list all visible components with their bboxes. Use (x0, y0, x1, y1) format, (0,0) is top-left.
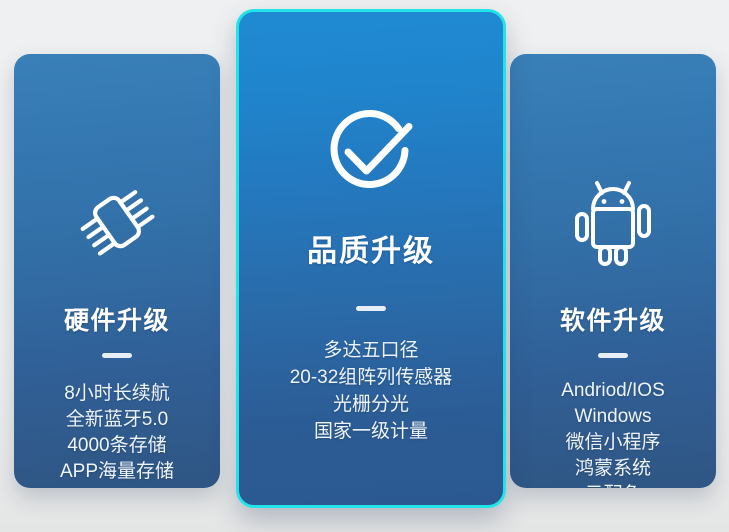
list-item: 微信小程序 (510, 430, 716, 456)
card-title-hardware: 硬件升级 (14, 306, 220, 336)
android-robot-icon (510, 174, 716, 270)
feature-card-hardware[interactable]: 硬件升级 8小时长续航 全新蓝牙5.0 4000条存储 APP海量存储 (14, 54, 220, 488)
title-divider (102, 353, 132, 358)
title-divider (356, 306, 386, 311)
title-divider (598, 353, 628, 358)
check-circle-icon (239, 98, 503, 210)
list-item: 国家一级计量 (239, 418, 503, 445)
list-item: Windows (510, 404, 716, 430)
feature-list-hardware: 8小时长续航 全新蓝牙5.0 4000条存储 APP海量存储 (14, 381, 220, 485)
list-item: 云配色 (510, 482, 716, 488)
feature-list-quality: 多达五口径 20-32组阵列传感器 光栅分光 国家一级计量 (239, 337, 503, 445)
microchip-icon (14, 174, 220, 270)
feature-card-quality[interactable]: 品质升级 多达五口径 20-32组阵列传感器 光栅分光 国家一级计量 (236, 9, 506, 508)
list-item: Andriod/IOS (510, 378, 716, 404)
feature-cards-stage: 硬件升级 8小时长续航 全新蓝牙5.0 4000条存储 APP海量存储 品质升级… (0, 0, 729, 532)
list-item: 全新蓝牙5.0 (14, 407, 220, 433)
list-item: 8小时长续航 (14, 381, 220, 407)
feature-card-software[interactable]: 软件升级 Andriod/IOS Windows 微信小程序 鸿蒙系统 云配色 (510, 54, 716, 488)
list-item: APP海量存储 (14, 459, 220, 485)
list-item: 4000条存储 (14, 433, 220, 459)
card-title-quality: 品质升级 (239, 234, 503, 270)
list-item: 20-32组阵列传感器 (239, 364, 503, 391)
list-item: 光栅分光 (239, 391, 503, 418)
list-item: 鸿蒙系统 (510, 456, 716, 482)
card-title-software: 软件升级 (510, 306, 716, 336)
feature-list-software: Andriod/IOS Windows 微信小程序 鸿蒙系统 云配色 (510, 378, 716, 488)
list-item: 多达五口径 (239, 337, 503, 364)
